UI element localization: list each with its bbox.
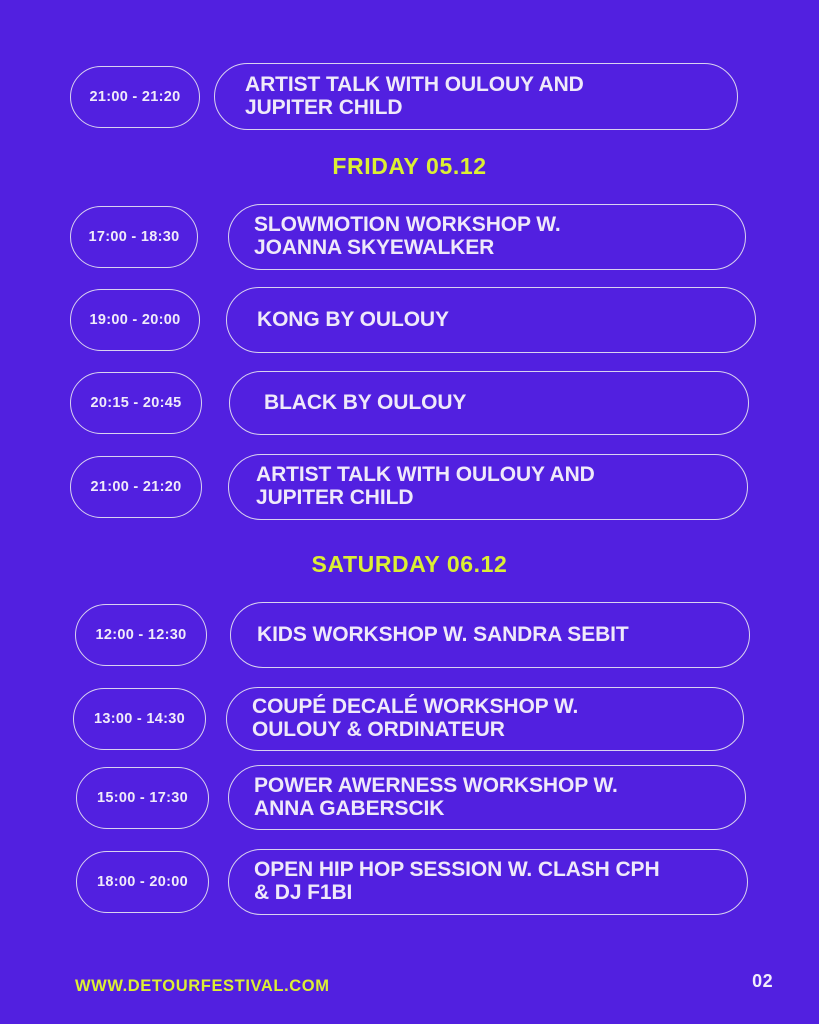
event-title: KIDS WORKSHOP W. SANDRA SEBIT [231, 624, 647, 647]
event-time-pill: 15:00 - 17:30 [76, 767, 209, 829]
festival-schedule-poster: 21:00 - 21:20ARTIST TALK WITH OULOUY AND… [0, 0, 819, 1024]
schedule-row: 12:00 - 12:30KIDS WORKSHOP W. SANDRA SEB… [0, 602, 819, 668]
event-title-line: ARTIST TALK WITH OULOUY AND [256, 464, 595, 487]
event-time-pill: 19:00 - 20:00 [70, 289, 200, 351]
event-title-line: KIDS WORKSHOP W. SANDRA SEBIT [257, 624, 629, 647]
event-time-pill: 13:00 - 14:30 [73, 688, 206, 750]
event-pill[interactable]: KONG BY OULOUY [226, 287, 756, 353]
event-title: POWER AWERNESS WORKSHOP W.ANNA GABERSCIK [229, 775, 636, 820]
event-pill[interactable]: ARTIST TALK WITH OULOUY ANDJUPITER CHILD [228, 454, 748, 520]
day-heading: SATURDAY 06.12 [0, 551, 819, 578]
festival-website-url[interactable]: WWW.DETOURFESTIVAL.COM [75, 977, 330, 996]
event-title-line: OPEN HIP HOP SESSION W. CLASH CPH [254, 859, 660, 882]
event-pill[interactable]: KIDS WORKSHOP W. SANDRA SEBIT [230, 602, 750, 668]
page-number: 02 [752, 971, 773, 992]
schedule-row: 21:00 - 21:20ARTIST TALK WITH OULOUY AND… [0, 63, 819, 130]
event-title-line: KONG BY OULOUY [257, 309, 449, 332]
event-time-pill: 21:00 - 21:20 [70, 66, 200, 128]
event-pill[interactable]: SLOWMOTION WORKSHOP W.JOANNA SKYEWALKER [228, 204, 746, 270]
event-pill[interactable]: ARTIST TALK WITH OULOUY ANDJUPITER CHILD [214, 63, 738, 130]
event-time-pill: 12:00 - 12:30 [75, 604, 207, 666]
schedule-row: 18:00 - 20:00OPEN HIP HOP SESSION W. CLA… [0, 849, 819, 915]
event-title-line: COUPÉ DECALÉ WORKSHOP W. [252, 696, 578, 719]
schedule-row: 19:00 - 20:00KONG BY OULOUY [0, 287, 819, 353]
event-title-line: JUPITER CHILD [245, 97, 584, 120]
event-pill[interactable]: OPEN HIP HOP SESSION W. CLASH CPH& DJ F1… [228, 849, 748, 915]
event-title-line: JUPITER CHILD [256, 487, 595, 510]
event-title-line: BLACK BY OULOUY [264, 392, 466, 415]
event-title: OPEN HIP HOP SESSION W. CLASH CPH& DJ F1… [229, 859, 678, 904]
event-pill[interactable]: BLACK BY OULOUY [229, 371, 749, 435]
event-title-line: ARTIST TALK WITH OULOUY AND [245, 74, 584, 97]
event-title-line: & DJ F1BI [254, 882, 660, 905]
schedule-row: 20:15 - 20:45BLACK BY OULOUY [0, 371, 819, 435]
schedule-row: 21:00 - 21:20ARTIST TALK WITH OULOUY AND… [0, 454, 819, 520]
event-title-line: ANNA GABERSCIK [254, 798, 618, 821]
event-title-line: OULOUY & ORDINATEUR [252, 719, 578, 742]
schedule-row: 15:00 - 17:30POWER AWERNESS WORKSHOP W.A… [0, 765, 819, 830]
event-title: ARTIST TALK WITH OULOUY ANDJUPITER CHILD [215, 74, 602, 119]
event-time-pill: 18:00 - 20:00 [76, 851, 209, 913]
event-title: SLOWMOTION WORKSHOP W.JOANNA SKYEWALKER [229, 214, 579, 259]
event-pill[interactable]: COUPÉ DECALÉ WORKSHOP W.OULOUY & ORDINAT… [226, 687, 744, 751]
event-title-line: POWER AWERNESS WORKSHOP W. [254, 775, 618, 798]
event-pill[interactable]: POWER AWERNESS WORKSHOP W.ANNA GABERSCIK [228, 765, 746, 830]
day-heading: FRIDAY 05.12 [0, 153, 819, 180]
event-time-pill: 17:00 - 18:30 [70, 206, 198, 268]
schedule-row: 13:00 - 14:30COUPÉ DECALÉ WORKSHOP W.OUL… [0, 687, 819, 751]
event-title: KONG BY OULOUY [227, 309, 467, 332]
event-title: COUPÉ DECALÉ WORKSHOP W.OULOUY & ORDINAT… [227, 696, 596, 741]
event-title-line: SLOWMOTION WORKSHOP W. [254, 214, 561, 237]
event-title: BLACK BY OULOUY [230, 392, 484, 415]
event-time-pill: 21:00 - 21:20 [70, 456, 202, 518]
event-title: ARTIST TALK WITH OULOUY ANDJUPITER CHILD [229, 464, 613, 509]
event-time-pill: 20:15 - 20:45 [70, 372, 202, 434]
schedule-row: 17:00 - 18:30SLOWMOTION WORKSHOP W.JOANN… [0, 204, 819, 270]
event-title-line: JOANNA SKYEWALKER [254, 237, 561, 260]
